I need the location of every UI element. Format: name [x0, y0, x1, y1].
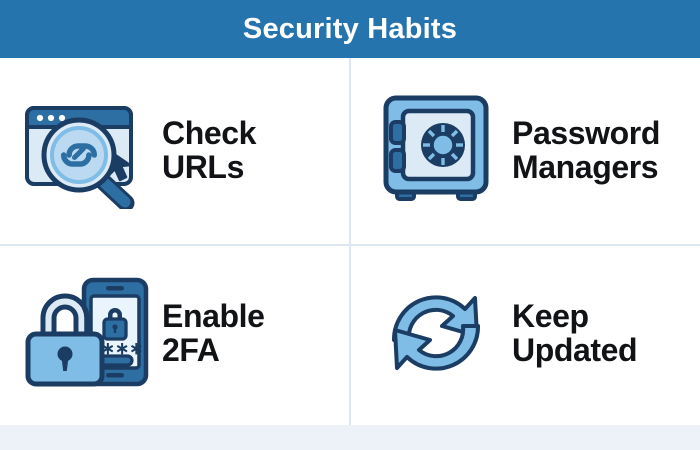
padlock-phone-icon: ∗∗∗∗ [20, 272, 152, 394]
refresh-sync-arrows-icon [380, 278, 492, 388]
icon-container [366, 271, 506, 396]
habit-label-keep-updated: Keep Updated [512, 299, 700, 367]
icon-container [366, 87, 506, 212]
icon-container: ∗∗∗∗ [16, 271, 156, 396]
habit-label-password-managers: Password Managers [512, 116, 700, 184]
habit-card-check-urls[interactable]: Check URLs [0, 58, 350, 242]
browser-magnifier-link-icon [22, 91, 150, 209]
page-title: Security Habits [243, 15, 457, 44]
icon-container [16, 87, 156, 212]
habit-label-enable-2fa: Enable 2FA [162, 299, 350, 367]
habit-label-check-urls: Check URLs [162, 116, 350, 184]
habit-card-enable-2fa[interactable]: ∗∗∗∗ Enable 2FA [0, 242, 350, 426]
habit-card-keep-updated[interactable]: Keep Updated [350, 242, 700, 426]
security-habits-infographic: Security Habits [0, 0, 700, 450]
habit-card-password-managers[interactable]: Password Managers [350, 58, 700, 242]
habits-grid: Check URLs [0, 58, 700, 425]
footer-strip [0, 425, 700, 450]
safe-vault-icon [377, 92, 495, 207]
header-bar: Security Habits [0, 0, 700, 58]
